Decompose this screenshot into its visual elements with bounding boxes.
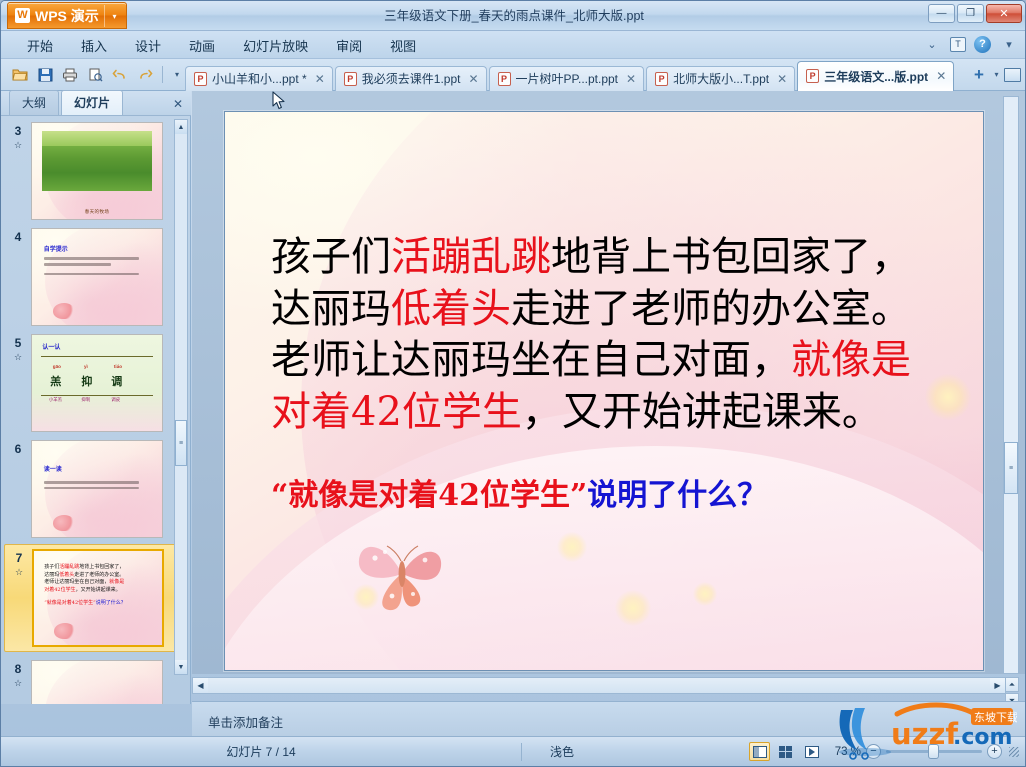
scroll-left-icon[interactable]: ◀: [193, 678, 208, 693]
grassland-photo: [42, 131, 151, 191]
menu-item-slideshow[interactable]: 幻灯片放映: [231, 32, 320, 59]
thumbnail-item-8[interactable]: 8 ☆: [1, 654, 191, 704]
file-tab-5-active[interactable]: P 三年级语文...版.ppt ✕: [797, 61, 954, 91]
chevron-down-icon[interactable]: ⌄: [922, 34, 942, 54]
thumbnail-line-5: “就像是对着42位学生”说明了什么？: [44, 600, 154, 608]
text-run-5-highlight: 低着头: [391, 286, 511, 332]
scroll-prev-slide-button[interactable]: ⏶: [1005, 677, 1019, 692]
open-icon[interactable]: [9, 64, 31, 86]
word-1: 小羊羔: [49, 397, 62, 403]
tab-slides[interactable]: 幻灯片: [61, 90, 123, 115]
thumbnail-line-4: 对着42位学生，又开始讲起课来。: [44, 587, 154, 595]
ppt-file-icon: P: [344, 72, 357, 86]
thumbnail-number: 3 ☆: [5, 122, 31, 220]
animation-star-icon: ☆: [6, 565, 32, 579]
file-tab-list: P 小山羊和小...ppt * ✕ P 我必须去课件1.ppt ✕ P 一片树叶…: [185, 59, 969, 91]
slideshow-view-button[interactable]: [801, 742, 822, 761]
thumbnail-preview[interactable]: 自学提示: [31, 228, 163, 326]
thumbnail-preview[interactable]: 春天的牧场: [31, 122, 163, 220]
slide-question-text[interactable]: “就像是对着42位学生”说明了什么？: [271, 470, 953, 514]
close-button[interactable]: ✕: [986, 4, 1022, 23]
file-tab-label: 我必须去课件1.ppt: [362, 70, 461, 87]
slide-horizontal-scrollbar[interactable]: ◀ ▶: [192, 677, 1006, 694]
notes-placeholder[interactable]: 单击添加备注: [192, 702, 1025, 731]
file-tab-4[interactable]: P 北师大版小...T.ppt ✕: [646, 66, 795, 91]
file-tab-label: 一片树叶PP...pt.ppt: [516, 70, 619, 87]
menu-item-home[interactable]: 开始: [15, 32, 65, 59]
pinyin-3: tiáo: [114, 364, 122, 369]
slide-editing-stage: 孩子们活蹦乱跳地背上书包回家了，达丽玛低着头走进了老师的办公室。老师让达丽玛坐在…: [192, 91, 1025, 674]
scrollbar-thumb[interactable]: ≡: [175, 420, 187, 466]
slide-counter: 幻灯片 7 / 14: [1, 743, 521, 760]
thumbnail-preview[interactable]: 认一认 gāo yì tiáo 羔 抑 调 小羊羔 抑制 调皮: [31, 334, 163, 432]
slideshow-icon: [805, 746, 819, 758]
notes-pane[interactable]: 单击添加备注: [192, 701, 1025, 737]
butterfly-decoration: [345, 526, 463, 612]
pinyin-1: gāo: [53, 364, 61, 369]
scroll-up-icon[interactable]: ▲: [175, 120, 187, 134]
chevron-down-icon[interactable]: ▾: [104, 5, 124, 27]
normal-view-button[interactable]: [749, 742, 770, 761]
file-tab-2[interactable]: P 我必须去课件1.ppt ✕: [335, 66, 487, 91]
text-run-3: 地背上书包回家了，: [551, 234, 911, 280]
character-3: 调: [111, 373, 122, 389]
slide-body-text[interactable]: 孩子们活蹦乱跳地背上书包回家了，达丽玛低着头走进了老师的办公室。老师让达丽玛坐在…: [271, 232, 949, 438]
panel-scrollbar[interactable]: ▲ ≡ ▼: [174, 119, 188, 675]
close-icon[interactable]: ✕: [315, 72, 325, 86]
text-run-6: 走进了老师的办公室。: [511, 286, 911, 332]
file-tab-label: 北师大版小...T.ppt: [673, 70, 769, 87]
wps-presentation-window: 三年级语文下册_春天的雨点课件_北师大版.ppt W WPS 演示 ▾ — ❐ …: [0, 0, 1026, 767]
thumbnail-number: 8 ☆: [5, 660, 31, 704]
menu-item-insert[interactable]: 插入: [69, 32, 119, 59]
mouse-cursor: [272, 91, 286, 111]
close-icon[interactable]: ✕: [626, 72, 636, 86]
file-tab-label: 小山羊和小...ppt *: [212, 70, 307, 87]
thumbnail-number: 4: [5, 228, 31, 326]
butterfly-decoration: [53, 303, 75, 319]
thumbnail-preview[interactable]: 读一读: [31, 440, 163, 538]
ppt-file-icon: P: [806, 69, 819, 83]
help-icon[interactable]: ?: [974, 36, 991, 53]
thumbnail-line-3: 老师让达丽玛坐在自己对面，就像是: [44, 579, 154, 587]
character-1: 羔: [50, 373, 61, 389]
quick-access-toolbar: ▾: [1, 59, 185, 91]
menu-item-design[interactable]: 设计: [123, 32, 173, 59]
menu-bar: 开始 插入 设计 动画 幻灯片放映 审阅 视图 ⌄ T ? ▾: [1, 31, 1026, 59]
close-icon[interactable]: ✕: [777, 72, 787, 86]
zoom-slider[interactable]: [886, 750, 982, 753]
skin-icon[interactable]: T: [950, 37, 966, 52]
menu-bar-right-icons: ⌄ T ? ▾: [922, 34, 1019, 54]
thumbnail-item-3[interactable]: 3 ☆ 春天的牧场: [1, 116, 191, 222]
zoom-level-label: 73 %: [827, 746, 861, 758]
close-icon[interactable]: ✕: [468, 72, 478, 86]
ppt-file-icon: P: [498, 72, 511, 86]
save-icon[interactable]: [34, 64, 56, 86]
wps-brand-label: WPS 演示: [35, 6, 99, 26]
scrollbar-thumb[interactable]: ≡: [1004, 442, 1018, 494]
thumbnail-item-7-selected[interactable]: 7 ☆ 孩子们活蹦乱跳地背上书包回家了， 达丽玛低着头走进了老师的办公室。 老师…: [4, 544, 188, 652]
quick-access-and-file-tabs: ▾ P 小山羊和小...ppt * ✕ P 我必须去课件1.ppt ✕ P 一片…: [1, 59, 1026, 91]
thumbnail-preview[interactable]: [31, 660, 163, 704]
animation-star-icon: ☆: [5, 676, 31, 690]
status-bar: 幻灯片 7 / 14 浅色 73 % − +: [1, 736, 1026, 766]
zoom-out-button[interactable]: −: [866, 744, 881, 759]
maximize-button[interactable]: ❐: [957, 4, 984, 23]
text-run-4: 达丽玛: [271, 286, 391, 332]
thumbnail-preview[interactable]: 孩子们活蹦乱跳地背上书包回家了， 达丽玛低着头走进了老师的办公室。 老师让达丽玛…: [32, 549, 164, 647]
animation-star-icon: ☆: [5, 350, 31, 364]
window-list-icon[interactable]: [1004, 68, 1021, 82]
close-panel-icon[interactable]: ✕: [173, 97, 183, 115]
slide-navigator-panel: 大纲 幻灯片 ✕ 3 ☆ 春天的牧场 4: [1, 91, 191, 704]
window-controls: — ❐ ✕: [928, 4, 1022, 23]
undo-icon[interactable]: [109, 64, 131, 86]
file-tabs-actions: + ▾: [969, 65, 1026, 85]
menu-item-animation[interactable]: 动画: [177, 32, 227, 59]
slide-sorter-view-button[interactable]: [775, 742, 796, 761]
print-icon[interactable]: [59, 64, 81, 86]
document-title: 三年级语文下册_春天的雨点课件_北师大版.ppt: [1, 1, 1026, 31]
ppt-file-icon: P: [655, 72, 668, 86]
thumbnail-item-5[interactable]: 5 ☆ 认一认 gāo yì tiáo 羔 抑 调 小羊羔: [1, 328, 191, 434]
chevron-down-icon[interactable]: ▾: [991, 70, 1002, 79]
theme-name[interactable]: 浅色: [522, 743, 574, 760]
glow-dot-2: [557, 532, 587, 562]
tab-outline[interactable]: 大纲: [9, 90, 59, 115]
butterfly-decoration: [53, 515, 75, 531]
thumbnail-item-6[interactable]: 6 读一读: [1, 434, 191, 540]
thumbnail-number: 7 ☆: [6, 549, 32, 647]
file-tab-3[interactable]: P 一片树叶PP...pt.ppt ✕: [489, 66, 645, 91]
animation-star-icon: ☆: [5, 138, 31, 152]
thumbnail-number: 6: [5, 440, 31, 538]
status-bar-right: 73 % − +: [749, 742, 1026, 761]
pinyin-2: yì: [84, 364, 88, 369]
title-bar: 三年级语文下册_春天的雨点课件_北师大版.ppt W WPS 演示 ▾ — ❐ …: [1, 1, 1026, 31]
zoom-in-button[interactable]: +: [987, 744, 1002, 759]
slide-vertical-scrollbar[interactable]: ≡: [1003, 96, 1019, 674]
thumbnail-title: 读一读: [44, 464, 152, 473]
glow-dot-4: [693, 582, 717, 606]
menu-item-list: 开始 插入 设计 动画 幻灯片放映 审阅 视图: [1, 31, 1026, 59]
redo-icon[interactable]: [134, 64, 156, 86]
slide-sorter-icon: [779, 746, 792, 758]
scroll-down-icon[interactable]: ▼: [175, 660, 187, 674]
wps-logo-icon: W: [15, 8, 30, 23]
thumbnail-number: 5 ☆: [5, 334, 31, 432]
file-tab-label: 三年级语文...版.ppt: [824, 68, 928, 85]
thumbnail-title: 自学提示: [44, 244, 152, 253]
glow-dot-3: [615, 590, 651, 626]
thumbnail-list[interactable]: 3 ☆ 春天的牧场 4 自学提示: [1, 116, 191, 704]
thumbnail-line-1: 孩子们活蹦乱跳地背上书包回家了，: [44, 564, 154, 572]
ppt-file-icon: P: [194, 72, 207, 86]
close-icon[interactable]: ✕: [936, 69, 946, 83]
customize-toolbar-icon[interactable]: ▾: [169, 64, 185, 86]
double-up-icon[interactable]: ⏶: [1005, 677, 1019, 692]
minimize-button[interactable]: —: [928, 4, 955, 23]
question-quoted-part: “就像是对着42位学生”: [271, 478, 587, 513]
wps-app-button[interactable]: W WPS 演示 ▾: [7, 2, 127, 29]
toolbar-separator: [162, 66, 163, 83]
thumbnail-caption: 春天的牧场: [32, 209, 162, 215]
text-run-7: 老师让达丽玛坐在自己对面，: [271, 337, 791, 383]
normal-view-icon: [753, 746, 767, 758]
panel-tab-bar: 大纲 幻灯片 ✕: [1, 91, 191, 116]
dropdown-icon[interactable]: ▾: [999, 34, 1019, 54]
text-run-1: 孩子们: [271, 234, 391, 280]
scroll-right-icon[interactable]: ▶: [990, 678, 1005, 693]
file-tab-1[interactable]: P 小山羊和小...ppt * ✕: [185, 66, 333, 91]
current-slide-canvas[interactable]: 孩子们活蹦乱跳地背上书包回家了，达丽玛低着头走进了老师的办公室。老师让达丽玛坐在…: [224, 111, 984, 671]
word-2: 抑制: [81, 397, 90, 403]
thumbnail-title: 认一认: [42, 342, 60, 351]
resize-grip[interactable]: [1009, 747, 1019, 757]
thumbnail-item-4[interactable]: 4 自学提示: [1, 222, 191, 328]
word-3: 调皮: [111, 397, 120, 403]
print-preview-icon[interactable]: [84, 64, 106, 86]
text-run-9: ，又开始讲起课来。: [522, 389, 882, 435]
character-2: 抑: [81, 373, 92, 389]
text-run-2-highlight: 活蹦乱跳: [391, 234, 551, 280]
menu-item-view[interactable]: 视图: [378, 32, 428, 59]
menu-item-review[interactable]: 审阅: [324, 32, 374, 59]
new-tab-button[interactable]: +: [969, 65, 989, 85]
question-ask-part: 说明了什么？: [587, 478, 767, 513]
zoom-slider-handle[interactable]: [928, 744, 939, 759]
